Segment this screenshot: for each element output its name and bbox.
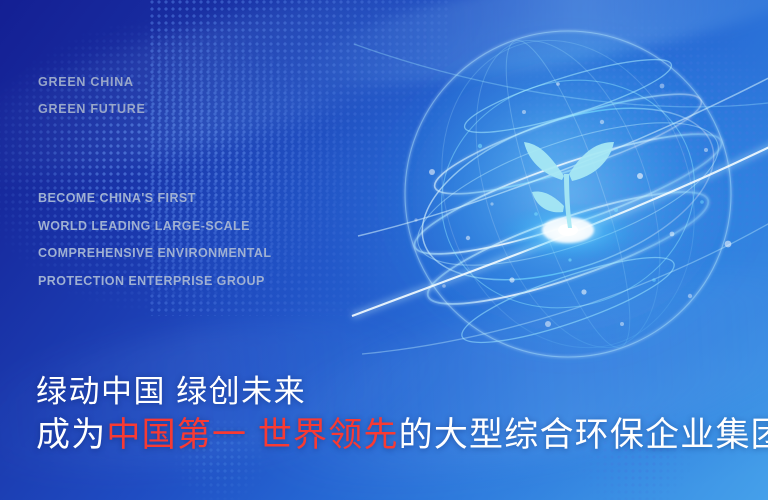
headline-prefix: 成为 — [36, 416, 106, 454]
globe-graphic — [372, 24, 768, 370]
eyebrow-line-1: GREEN CHINA — [38, 69, 146, 96]
sprout-seedling-icon — [524, 142, 614, 228]
tagline-text: BECOME CHINA'S FIRST WORLD LEADING LARGE… — [38, 185, 271, 295]
halftone-map-texture-right — [458, 0, 768, 284]
eyebrow-line-2: GREEN FUTURE — [38, 96, 146, 123]
headline: 绿动中国 绿创未来 成为中国第一 世界领先的大型综合环保企业集团 — [36, 372, 768, 456]
hero-banner: GREEN CHINA GREEN FUTURE BECOME CHINA'S … — [0, 0, 768, 500]
tagline-line-2: WORLD LEADING LARGE-SCALE — [38, 213, 271, 241]
headline-line-2: 成为中国第一 世界领先的大型综合环保企业集团 — [36, 414, 768, 456]
headline-suffix: 的大型综合环保企业集团 — [399, 416, 768, 454]
tagline-line-1: BECOME CHINA'S FIRST — [38, 185, 271, 213]
light-streak-lower-right — [241, 232, 768, 500]
headline-line-1: 绿动中国 绿创未来 — [36, 372, 768, 412]
light-streak-upper-right — [297, 0, 768, 113]
tagline-line-4: PROTECTION ENTERPRISE GROUP — [38, 268, 271, 296]
headline-highlight: 中国第一 世界领先 — [106, 416, 398, 454]
eyebrow-text: GREEN CHINA GREEN FUTURE — [38, 69, 146, 123]
tagline-line-3: COMPREHENSIVE ENVIRONMENTAL — [38, 240, 271, 268]
